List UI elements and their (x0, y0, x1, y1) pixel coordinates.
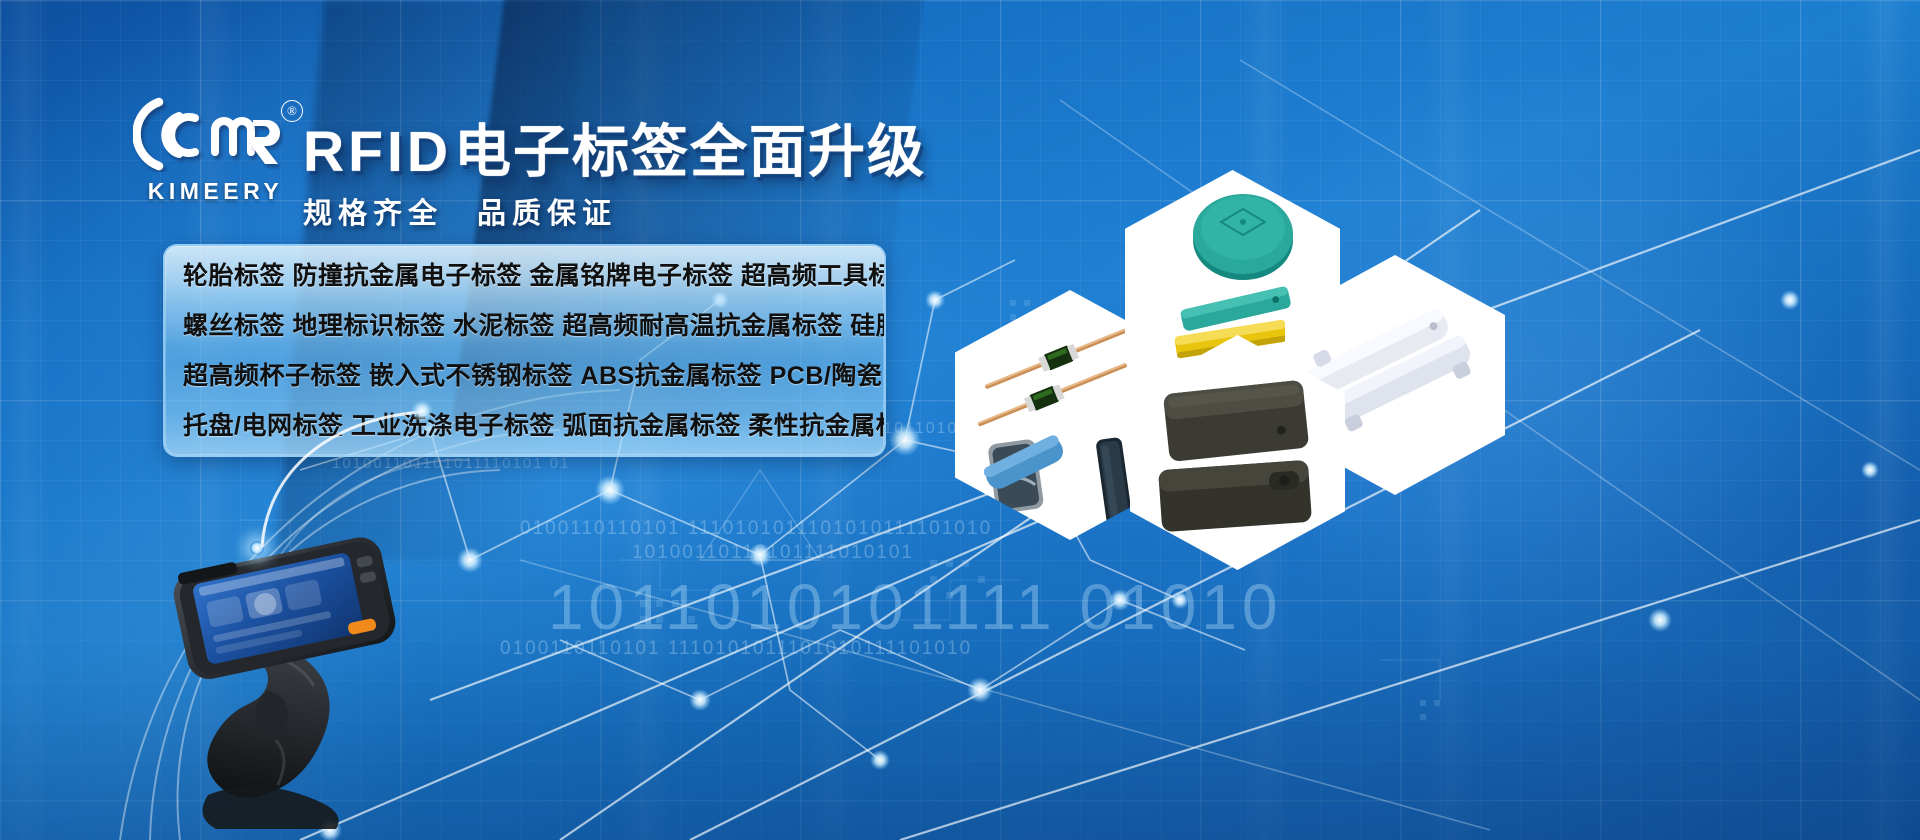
page-title-prefix: RFID (303, 120, 452, 184)
subtitle-left: 规格齐全 (303, 198, 443, 230)
scan-beam-dot (250, 541, 264, 555)
binary-string: 10100110110101111010101 (632, 542, 914, 564)
page-subtitle: 规格齐全品质保证 (303, 190, 617, 232)
product-list-row: 螺丝标签 地理标识标签 水泥标签 超高频耐高温抗金属标签 硅胶腕带 (165, 301, 884, 351)
page-title: RFID电子标签全面升级 (303, 106, 926, 188)
rfid-promo-banner: 0100110110101111010101 10100110110101111… (0, 0, 1920, 840)
product-list-panel: 轮胎标签 防撞抗金属电子标签 金属铭牌电子标签 超高频工具标签 螺丝标签 地理标… (163, 244, 886, 457)
registered-mark-icon: ® (281, 100, 303, 122)
brand-logo[interactable]: ® KIMEERY (133, 96, 313, 205)
binary-string: 101001101101011110101 01 (332, 455, 570, 472)
subtitle-right: 品质保证 (477, 198, 617, 230)
product-list-row: 轮胎标签 防撞抗金属电子标签 金属铭牌电子标签 超高频工具标签 (165, 251, 884, 301)
kimeery-wave-logo-icon: ® (133, 96, 283, 172)
binary-string: 0100110110101 1110101011101010111101010 (500, 638, 972, 660)
binary-string: 0100110110101 1110101011101010111101010 (520, 518, 992, 540)
product-list-row: 超高频杯子标签 嵌入式不锈钢标签 ABS抗金属标签 PCB/陶瓷电子标签 (165, 351, 884, 401)
rfid-handheld-reader[interactable] (150, 495, 420, 835)
product-list-row: 托盘/电网标签 工业洗涤电子标签 弧面抗金属标签 柔性抗金属标签 (165, 401, 884, 451)
brand-name: KIMEERY (133, 178, 298, 205)
binary-string-large: 1011010101111 01010 (548, 570, 1282, 644)
page-title-cn: 电子标签全面升级 (454, 120, 926, 184)
handheld-reader-icon (150, 495, 420, 835)
